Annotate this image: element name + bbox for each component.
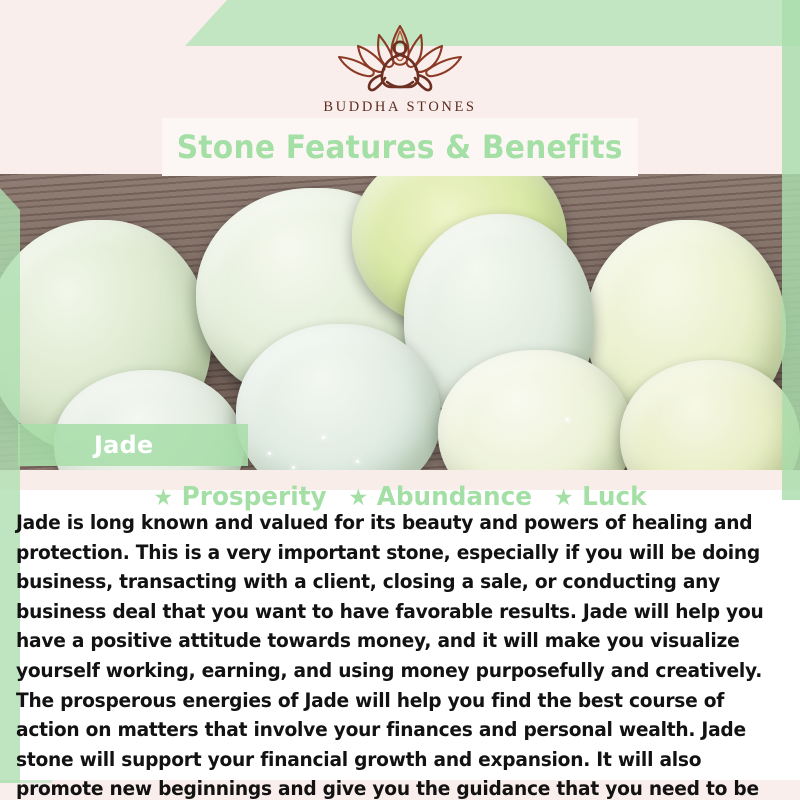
brand-header: BUDDHA STONES <box>0 0 800 122</box>
page-title: Stone Features & Benefits <box>177 128 623 166</box>
infographic-card: BUDDHA STONES Stone Features & Benefits … <box>0 0 800 800</box>
sparkle-highlight <box>566 418 569 421</box>
stone-name-label: Jade <box>94 431 153 459</box>
brand-logo: BUDDHA STONES <box>323 22 476 116</box>
description-text: Jade is long known and valued for its be… <box>16 508 764 800</box>
section-title-panel: Stone Features & Benefits <box>162 118 638 176</box>
sparkle-highlight <box>268 452 271 455</box>
sparkle-highlight <box>292 466 295 469</box>
sparkle-highlight <box>322 436 325 439</box>
lotus-meditation-icon <box>327 22 473 96</box>
sparkle-highlight <box>356 460 359 463</box>
stone-name-tag: Jade <box>18 424 248 466</box>
right-green-strip-decoration <box>782 0 800 500</box>
brand-name: BUDDHA STONES <box>323 99 476 116</box>
